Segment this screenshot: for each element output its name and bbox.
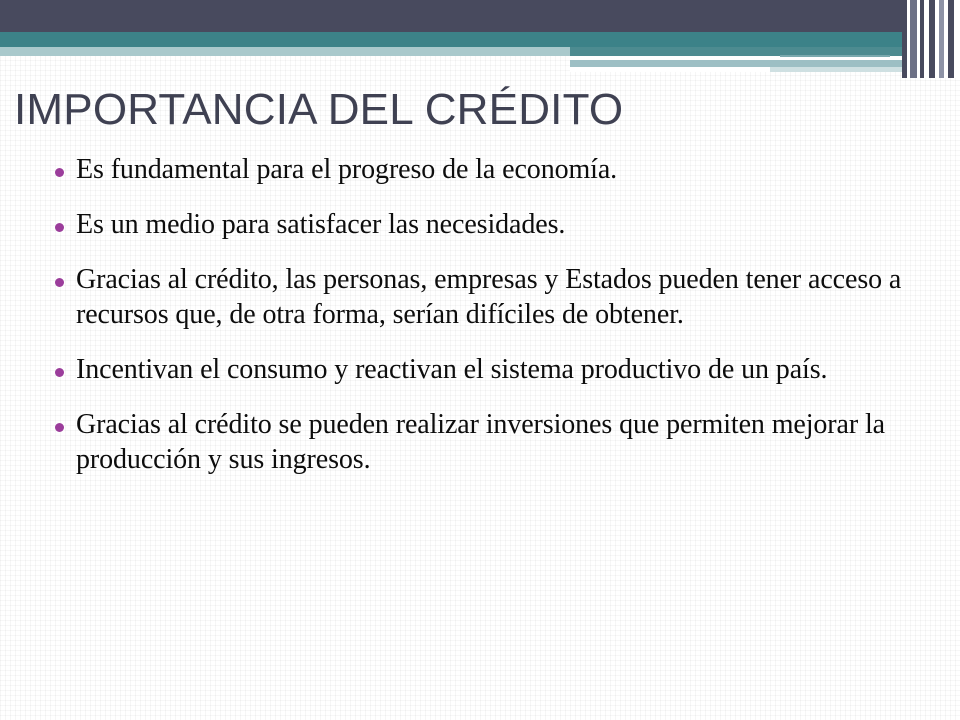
bullet-dot-icon bbox=[55, 278, 64, 287]
header-band-dark bbox=[0, 0, 960, 32]
list-item: Incentivan el consumo y reactivan el sis… bbox=[40, 352, 930, 387]
list-item-text: Es un medio para satisfacer las necesida… bbox=[76, 207, 930, 242]
header-vertical-strip-11 bbox=[954, 0, 960, 78]
list-item-text: Gracias al crédito se pueden realizar in… bbox=[76, 407, 930, 477]
bullet-dot-icon bbox=[55, 223, 64, 232]
header-vertical-strips bbox=[902, 0, 960, 78]
header-rule-white-secondary bbox=[570, 67, 770, 72]
list-item: Gracias al crédito se pueden realizar in… bbox=[40, 407, 930, 477]
bullet-list: Es fundamental para el progreso de la ec… bbox=[40, 152, 930, 497]
header-vertical-strip-2 bbox=[910, 0, 917, 78]
slide-root: IMPORTANCIA DEL CRÉDITO Es fundamental p… bbox=[0, 0, 960, 720]
bullet-dot-icon bbox=[55, 168, 64, 177]
list-item: Es fundamental para el progreso de la ec… bbox=[40, 152, 930, 187]
list-item-text: Es fundamental para el progreso de la ec… bbox=[76, 152, 930, 187]
list-item-text: Incentivan el consumo y reactivan el sis… bbox=[76, 352, 930, 387]
page-title: IMPORTANCIA DEL CRÉDITO bbox=[14, 84, 894, 136]
header-rule-hairline bbox=[780, 55, 890, 57]
list-item: Gracias al crédito, las personas, empres… bbox=[40, 262, 930, 332]
bullet-dot-icon bbox=[55, 368, 64, 377]
header-band-light-teal-left bbox=[0, 47, 570, 56]
header-band-teal bbox=[0, 32, 960, 47]
bullet-dot-icon bbox=[55, 423, 64, 432]
header-banner bbox=[0, 0, 960, 80]
list-item-text: Gracias al crédito, las personas, empres… bbox=[76, 262, 930, 332]
list-item: Es un medio para satisfacer las necesida… bbox=[40, 207, 930, 242]
